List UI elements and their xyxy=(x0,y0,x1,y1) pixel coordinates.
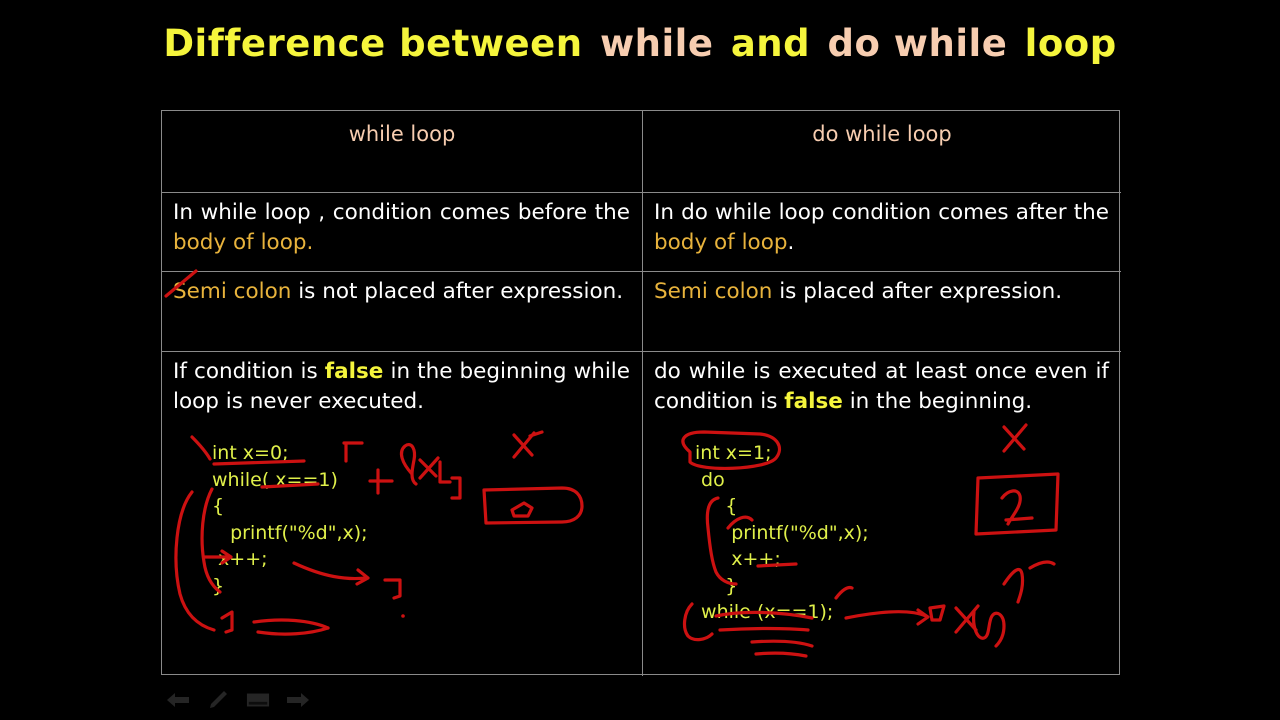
cell-text: In do while loop condition comes after t… xyxy=(643,192,1121,258)
title-segment: Difference between xyxy=(161,22,598,65)
board-icon[interactable] xyxy=(246,689,270,711)
title-segment: while xyxy=(598,22,729,65)
cell-text: do while is executed at least once even … xyxy=(643,351,1121,417)
cell-text: In while loop , condition comes before t… xyxy=(162,192,642,258)
code-sample-do-while: int x=1; do { printf("%d",x); x++; } whi… xyxy=(695,440,869,626)
forward-arrow-icon[interactable] xyxy=(286,689,310,711)
title-segment: do while xyxy=(826,22,1023,65)
text-segment: body of loop. xyxy=(173,230,313,255)
bottom-toolbar[interactable] xyxy=(166,689,310,711)
slide-canvas: Difference between while and do while lo… xyxy=(0,0,1280,720)
text-segment: is not placed after expression. xyxy=(298,279,623,304)
table-header-while-loop: while loop xyxy=(162,111,642,192)
table-header-label: do while loop xyxy=(812,122,951,146)
text-segment: In while loop , condition comes before t… xyxy=(173,200,630,225)
title-segment: and xyxy=(729,22,826,65)
code-sample-while: int x=0; while( x==1) { printf("%d",x); … xyxy=(212,440,368,599)
text-segment: . xyxy=(788,230,795,255)
text-segment: Semi colon xyxy=(173,279,298,304)
table-header-do-while-loop: do while loop xyxy=(643,111,1121,192)
table-row: Semi colon is placed after expression. xyxy=(643,271,1121,351)
text-segment: false xyxy=(784,389,843,414)
text-segment: false xyxy=(325,359,384,384)
text-segment: in the beginning. xyxy=(843,389,1032,414)
table-row: In while loop , condition comes before t… xyxy=(162,192,642,271)
back-arrow-icon[interactable] xyxy=(166,689,190,711)
text-segment: body of loop xyxy=(654,230,788,255)
text-segment: is placed after expression. xyxy=(779,279,1062,304)
text-segment: Semi colon xyxy=(654,279,779,304)
title-segment: loop xyxy=(1023,22,1119,65)
pencil-icon[interactable] xyxy=(206,689,230,711)
text-segment: If condition is xyxy=(173,359,325,384)
cell-text: Semi colon is not placed after expressio… xyxy=(162,271,642,307)
table-row: In do while loop condition comes after t… xyxy=(643,192,1121,271)
table-header-label: while loop xyxy=(349,122,456,146)
page-title: Difference between while and do while lo… xyxy=(0,22,1280,65)
table-row: Semi colon is not placed after expressio… xyxy=(162,271,642,351)
cell-text: If condition is false in the beginning w… xyxy=(162,351,642,417)
text-segment: In do while loop condition comes after t… xyxy=(654,200,1109,225)
cell-text: Semi colon is placed after expression. xyxy=(643,271,1121,307)
